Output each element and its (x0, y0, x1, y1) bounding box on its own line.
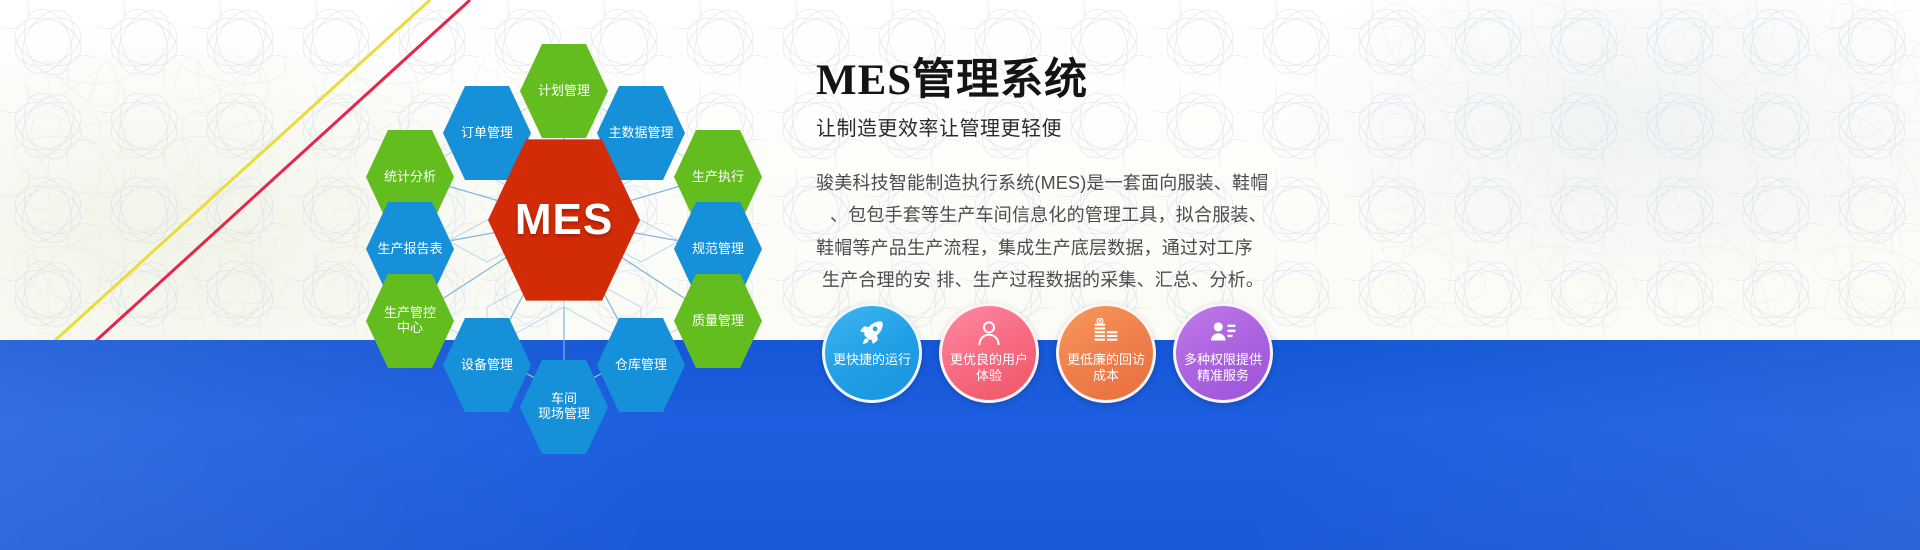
description-line: 生产合理的安 排、生产过程数据的采集、汇总、分析。 (816, 264, 1286, 296)
hex-node-label: 仓库管理 (615, 358, 667, 373)
page-subtitle: 让制造更效率让管理更轻便 (816, 112, 1286, 141)
description-line: 、包包手套等生产车间信息化的管理工具，拟合服装、 (816, 199, 1286, 231)
feature-badge-row: 更快捷的运行更优良的用户体验¥更低廉的回访成本多种权限提供精准服务 (822, 303, 1282, 403)
coins-icon: ¥ (1091, 316, 1121, 350)
hex-node-label: 生产执行 (692, 170, 744, 185)
badge-label: 更快捷的运行 (826, 352, 918, 368)
hex-node-label: 生产管控中心 (384, 306, 436, 336)
hex-node-label: 计划管理 (538, 84, 590, 99)
hex-node-label: 车间现场管理 (538, 392, 590, 422)
mes-hex-diagram: 计划管理订单管理主数据管理统计分析生产执行生产报告表规范管理生产管控中心质量管理… (330, 10, 800, 430)
badge-permissions[interactable]: 多种权限提供精准服务 (1173, 303, 1273, 403)
banner-text-column: MES管理系统 让制造更效率让管理更轻便 骏美科技智能制造执行系统(MES)是一… (816, 58, 1286, 296)
badge-lower-cost[interactable]: ¥更低廉的回访成本 (1056, 303, 1156, 403)
user-list-icon (1208, 316, 1238, 350)
hex-node-label: 设备管理 (461, 358, 513, 373)
hex-node-label: 统计分析 (384, 170, 436, 185)
hex-node-label: 生产报告表 (377, 242, 442, 257)
hex-node-label: 质量管理 (692, 314, 744, 329)
hex-node-label: 规范管理 (692, 242, 744, 257)
hex-node-label: 主数据管理 (608, 126, 673, 141)
page-title: MES管理系统 (816, 58, 1286, 104)
badge-label: 多种权限提供精准服务 (1177, 352, 1269, 385)
hex-node-label: 订单管理 (461, 126, 513, 141)
rocket-icon (857, 316, 887, 350)
badge-faster-operation[interactable]: 更快捷的运行 (822, 303, 922, 403)
description-line: 鞋帽等产品生产流程，集成生产底层数据，通过对工序 (816, 232, 1286, 264)
description-paragraph: 骏美科技智能制造执行系统(MES)是一套面向服装、鞋帽、包包手套等生产车间信息化… (816, 167, 1286, 295)
badge-label: 更低廉的回访成本 (1060, 352, 1152, 385)
mes-banner: 计划管理订单管理主数据管理统计分析生产执行生产报告表规范管理生产管控中心质量管理… (0, 0, 1920, 550)
user-icon (974, 316, 1004, 350)
description-line: 骏美科技智能制造执行系统(MES)是一套面向服装、鞋帽 (816, 167, 1286, 199)
badge-better-experience[interactable]: 更优良的用户体验 (939, 303, 1039, 403)
badge-label: 更优良的用户体验 (943, 352, 1035, 385)
hex-center-label: MES (515, 195, 613, 246)
